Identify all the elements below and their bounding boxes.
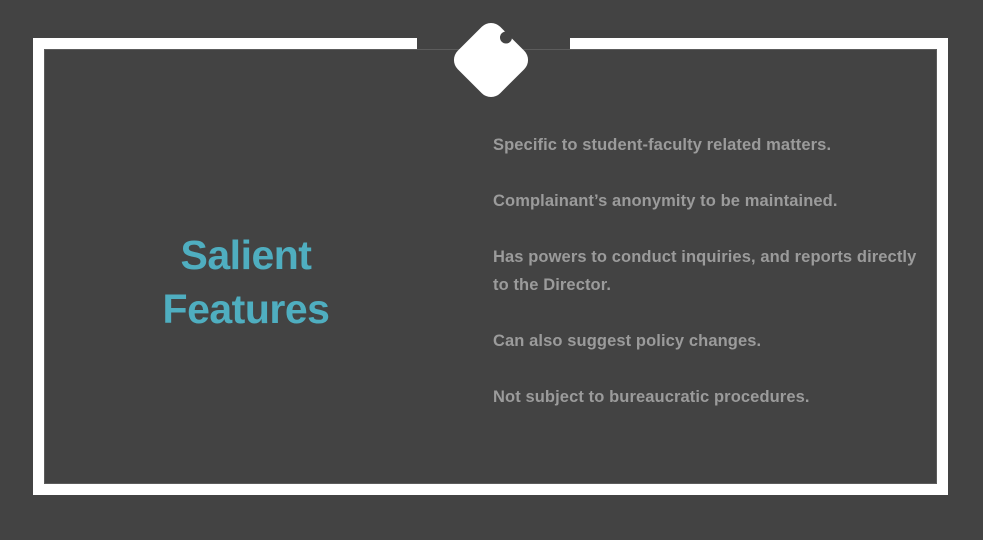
frame-left-segment — [33, 38, 44, 495]
frame-bottom-segment — [33, 484, 948, 495]
slide-canvas: Salient Features Specific to student-fac… — [0, 0, 983, 540]
frame-top-right-segment — [570, 38, 948, 49]
page-title-line-1: Salient — [60, 228, 432, 282]
tag-icon — [443, 12, 539, 108]
frame-top-left-segment — [33, 38, 417, 49]
list-item: Has powers to conduct inquiries, and rep… — [493, 243, 923, 299]
frame-right-segment — [937, 38, 948, 495]
feature-list: Specific to student-faculty related matt… — [493, 131, 923, 411]
list-item: Can also suggest policy changes. — [493, 327, 923, 355]
list-item: Not subject to bureaucratic procedures. — [493, 383, 923, 411]
list-item: Complainant’s anonymity to be maintained… — [493, 187, 923, 215]
page-title-line-2: Features — [60, 282, 432, 336]
page-title: Salient Features — [60, 228, 432, 336]
list-item: Specific to student-faculty related matt… — [493, 131, 923, 159]
tag-hole-icon — [500, 32, 512, 44]
